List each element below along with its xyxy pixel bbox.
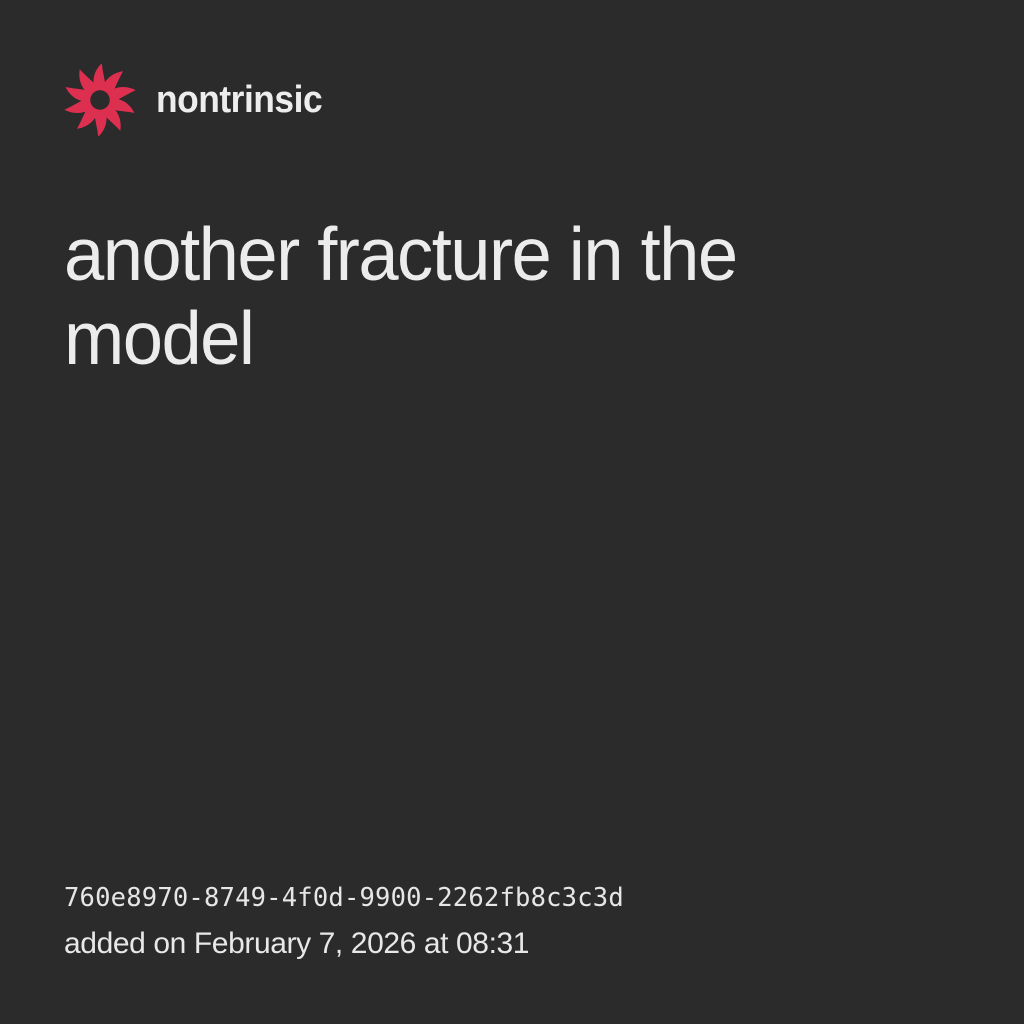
post-title-wrap: another fracture in the model [64,212,884,380]
content-spacer [64,380,960,881]
post-uuid: 760e8970-8749-4f0d-9900-2262fb8c3c3d [64,881,960,915]
spiral-aperture-icon [64,64,136,136]
brand-header[interactable]: nontrinsic [64,62,960,138]
post-added-timestamp: added on February 7, 2026 at 08:31 [64,926,960,962]
brand-name: nontrinsic [156,79,322,122]
post-card: nontrinsic another fracture in the model… [0,0,1024,1024]
page-title: another fracture in the model [64,212,855,380]
post-footer: 760e8970-8749-4f0d-9900-2262fb8c3c3d add… [64,881,960,962]
